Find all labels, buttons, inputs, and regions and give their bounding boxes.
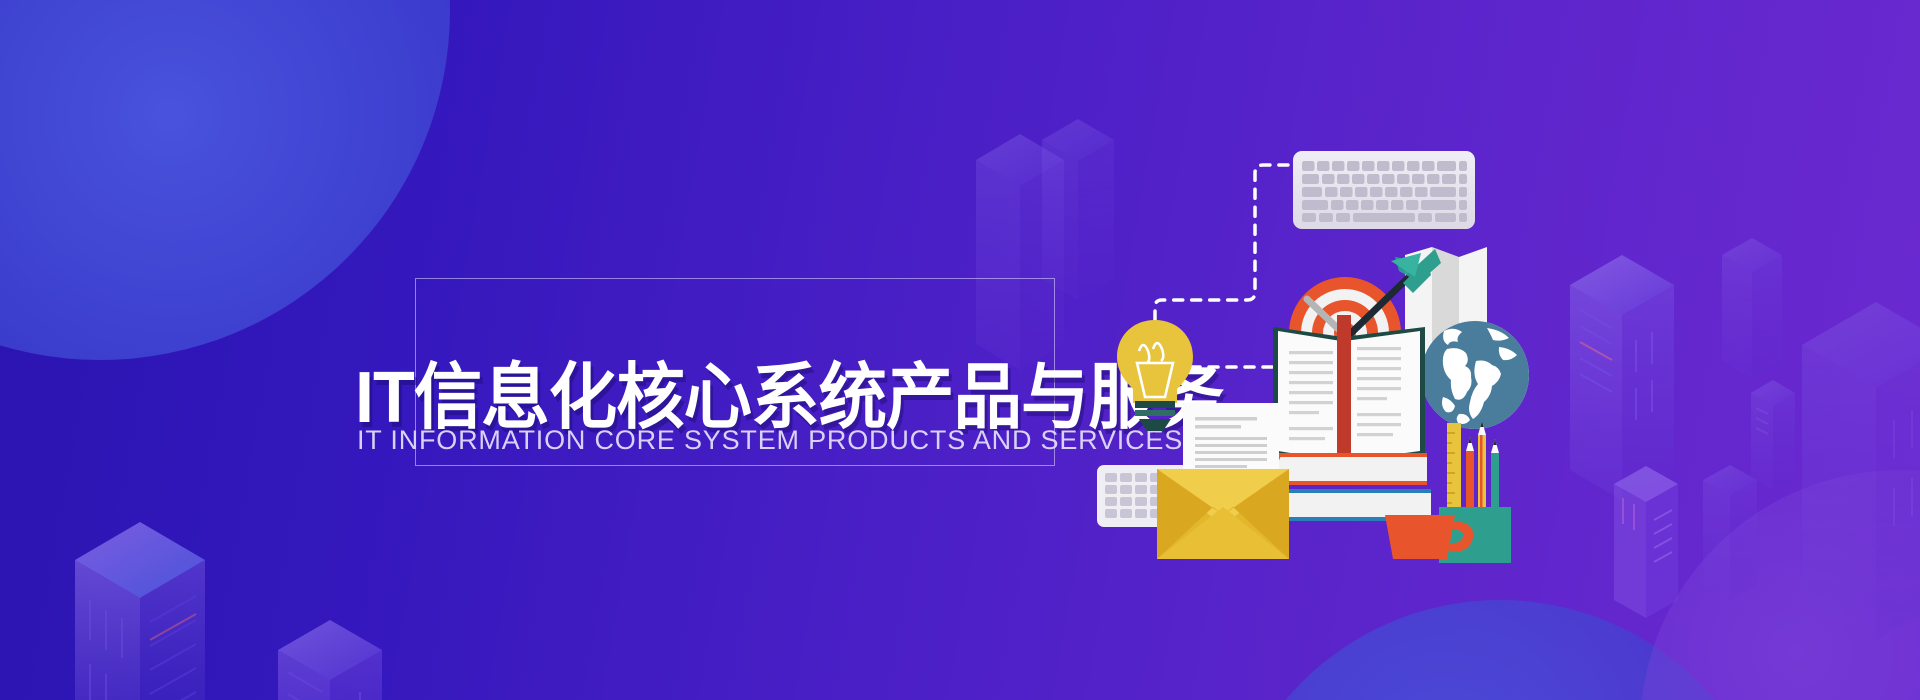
globe-icon — [1421, 321, 1529, 429]
keyboard-large-icon — [1293, 151, 1475, 229]
building-r-2 — [1614, 466, 1678, 618]
building-r-1 — [1570, 255, 1674, 500]
circle-bottom-right-decoration — [1640, 470, 1920, 700]
envelope-icon — [1157, 469, 1289, 559]
title-block: IT信息化核心系统产品与服务 IT INFORMATION CORE SYSTE… — [415, 278, 1055, 466]
circle-top-left-decoration — [0, 0, 450, 360]
page-title: IT信息化核心系统产品与服务 — [355, 362, 1077, 434]
open-book-icon — [1273, 315, 1425, 465]
building-r-6 — [1802, 302, 1920, 640]
page-subtitle: IT INFORMATION CORE SYSTEM PRODUCTS AND … — [357, 427, 1117, 454]
hero-illustration — [1095, 135, 1535, 565]
building-r-4 — [1751, 380, 1795, 490]
circle-bottom-center-decoration — [1220, 600, 1780, 700]
building-r-5 — [1703, 465, 1757, 600]
building-bl-tall — [75, 522, 205, 700]
building-r-3 — [1722, 238, 1782, 378]
lightbulb-icon — [1117, 320, 1193, 431]
hero-banner: IT信息化核心系统产品与服务 IT INFORMATION CORE SYSTE… — [0, 0, 1920, 700]
building-bl-short — [278, 620, 382, 700]
